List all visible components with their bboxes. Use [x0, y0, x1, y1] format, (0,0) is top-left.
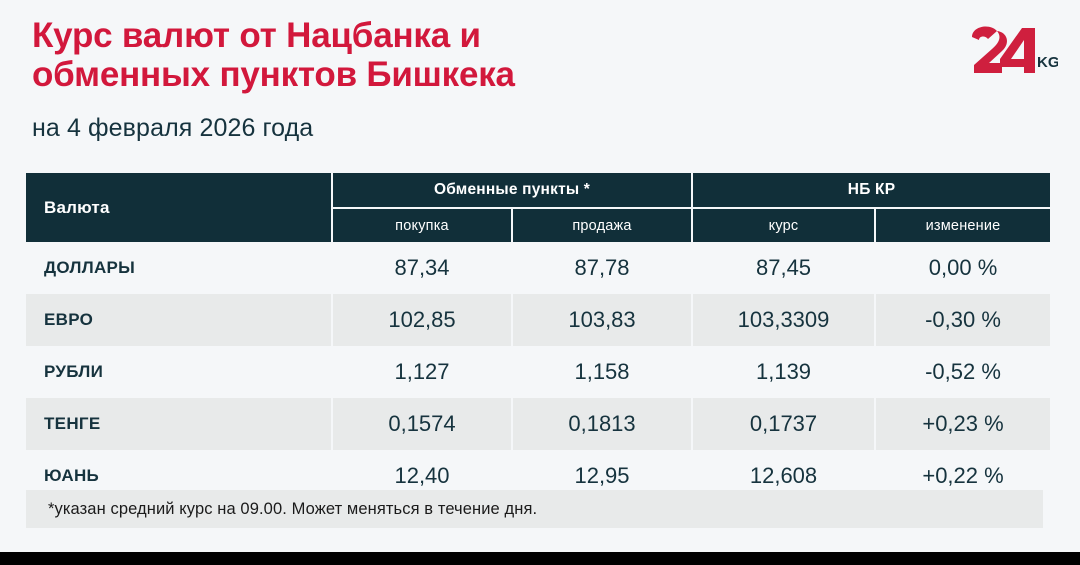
cell-buy: 87,34: [332, 242, 512, 294]
infographic-page: Курс валют от Нацбанка и обменных пункто…: [0, 0, 1080, 565]
column-header-buy: покупка: [332, 208, 512, 242]
page-title: Курс валют от Нацбанка и обменных пункто…: [32, 16, 732, 94]
header: Курс валют от Нацбанка и обменных пункто…: [32, 16, 1056, 142]
rates-table-container: Валюта Обменные пункты * НБ КР покупка п…: [26, 173, 1050, 502]
cell-rate: 87,45: [692, 242, 875, 294]
cell-sell: 87,78: [512, 242, 692, 294]
cell-change: -0,52 %: [875, 346, 1050, 398]
footnote: *указан средний курс на 09.00. Может мен…: [26, 490, 1043, 528]
cell-currency: ЕВРО: [26, 294, 332, 346]
cell-currency: РУБЛИ: [26, 346, 332, 398]
cell-sell: 0,1813: [512, 398, 692, 450]
cell-change: 0,00 %: [875, 242, 1050, 294]
table-head: Валюта Обменные пункты * НБ КР покупка п…: [26, 173, 1050, 242]
table-row: ЕВРО 102,85 103,83 103,3309 -0,30 %: [26, 294, 1050, 346]
svg-text:KG: KG: [1037, 54, 1058, 71]
footnote-text: *указан средний курс на 09.00. Может мен…: [48, 500, 537, 519]
column-header-currency: Валюта: [26, 173, 332, 242]
cell-rate: 103,3309: [692, 294, 875, 346]
page-subtitle: на 4 февраля 2026 года: [32, 114, 1056, 142]
logo-number-24: [972, 26, 1035, 73]
table-row: ДОЛЛАРЫ 87,34 87,78 87,45 0,00 %: [26, 242, 1050, 294]
cell-currency: ДОЛЛАРЫ: [26, 242, 332, 294]
table-row: ТЕНГЕ 0,1574 0,1813 0,1737 +0,23 %: [26, 398, 1050, 450]
table-header-group-row: Валюта Обменные пункты * НБ КР: [26, 173, 1050, 208]
cell-buy: 1,127: [332, 346, 512, 398]
cell-change: +0,23 %: [875, 398, 1050, 450]
cell-rate: 0,1737: [692, 398, 875, 450]
table-body: ДОЛЛАРЫ 87,34 87,78 87,45 0,00 % ЕВРО 10…: [26, 242, 1050, 502]
column-header-sell: продажа: [512, 208, 692, 242]
logo-suffix-kg: KG: [1037, 54, 1058, 71]
cell-buy: 102,85: [332, 294, 512, 346]
column-group-national-bank: НБ КР: [692, 173, 1050, 208]
table-row: РУБЛИ 1,127 1,158 1,139 -0,52 %: [26, 346, 1050, 398]
cell-buy: 0,1574: [332, 398, 512, 450]
cell-sell: 1,158: [512, 346, 692, 398]
24kg-logo: KG: [966, 22, 1058, 78]
cell-rate: 1,139: [692, 346, 875, 398]
column-group-exchange-offices: Обменные пункты *: [332, 173, 692, 208]
column-header-change: изменение: [875, 208, 1050, 242]
cell-currency: ТЕНГЕ: [26, 398, 332, 450]
bottom-bar: [0, 552, 1080, 565]
column-header-rate: курс: [692, 208, 875, 242]
rates-table: Валюта Обменные пункты * НБ КР покупка п…: [26, 173, 1050, 502]
cell-change: -0,30 %: [875, 294, 1050, 346]
cell-sell: 103,83: [512, 294, 692, 346]
